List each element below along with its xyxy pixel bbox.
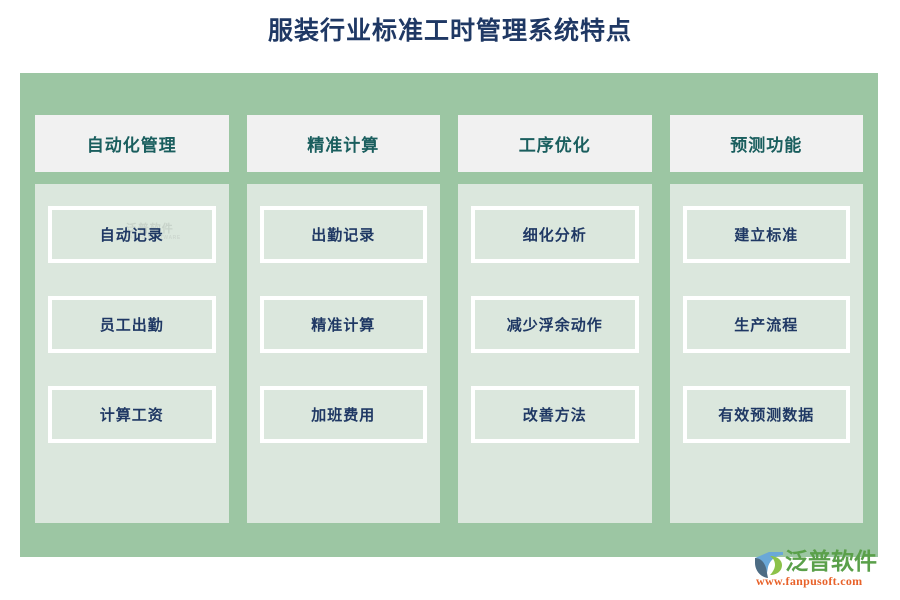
feature-cell-label: 自动记录 (100, 224, 164, 245)
feature-column-precise-calculation: 精准计算 出勤记录 精准计算 加班费用 (247, 115, 441, 523)
column-body-process-optimization: 细化分析 减少浮余动作 改善方法 (458, 184, 652, 523)
feature-cell-label: 有效预测数据 (718, 404, 814, 425)
feature-cell-label: 生产流程 (734, 314, 798, 335)
feature-cell-label: 出勤记录 (311, 224, 375, 245)
column-body-precise-calculation: 出勤记录 精准计算 加班费用 (247, 184, 441, 523)
feature-cell[interactable]: 自动记录 泛普软件 FANPU SOFTWARE (48, 206, 216, 263)
feature-cell[interactable]: 改善方法 (471, 386, 639, 443)
brand-url: www.fanpusoft.com (756, 575, 877, 587)
column-body-automation: 自动记录 泛普软件 FANPU SOFTWARE 员工出勤 计算工资 (35, 184, 229, 523)
feature-cell-label: 计算工资 (100, 404, 164, 425)
brand-logo: 泛普软件 www.fanpusoft.com (754, 550, 890, 594)
brand-name: 泛普软件 (785, 550, 877, 573)
feature-cell[interactable]: 建立标准 (683, 206, 851, 263)
column-header-process-optimization: 工序优化 (458, 115, 652, 172)
feature-cell-label: 建立标准 (734, 224, 798, 245)
column-header-precise-calculation: 精准计算 (247, 115, 441, 172)
feature-cell-label: 改善方法 (523, 404, 587, 425)
feature-cell-label: 细化分析 (523, 224, 587, 245)
feature-column-process-optimization: 工序优化 细化分析 减少浮余动作 改善方法 (458, 115, 652, 523)
column-header-label: 精准计算 (307, 131, 379, 156)
feature-cell[interactable]: 细化分析 (471, 206, 639, 263)
feature-cell-label: 加班费用 (311, 404, 375, 425)
feature-panel: 自动化管理 自动记录 泛普软件 FANPU SOFTWARE 员工出勤 计算工资 (20, 73, 878, 557)
column-header-label: 工序优化 (519, 131, 591, 156)
page-title: 服装行业标准工时管理系统特点 (0, 14, 900, 48)
column-header-label: 预测功能 (730, 131, 802, 156)
feature-cell[interactable]: 精准计算 (260, 296, 428, 353)
feature-column-automation: 自动化管理 自动记录 泛普软件 FANPU SOFTWARE 员工出勤 计算工资 (35, 115, 229, 523)
column-body-forecasting: 建立标准 生产流程 有效预测数据 (670, 184, 864, 523)
feature-cell-label: 精准计算 (311, 314, 375, 335)
feature-column-forecasting: 预测功能 建立标准 生产流程 有效预测数据 (670, 115, 864, 523)
feature-cell[interactable]: 员工出勤 (48, 296, 216, 353)
column-header-label: 自动化管理 (87, 131, 177, 156)
feature-cell[interactable]: 减少浮余动作 (471, 296, 639, 353)
feature-columns: 自动化管理 自动记录 泛普软件 FANPU SOFTWARE 员工出勤 计算工资 (35, 115, 863, 523)
feature-cell[interactable]: 有效预测数据 (683, 386, 851, 443)
feature-cell-label: 员工出勤 (100, 314, 164, 335)
column-header-forecasting: 预测功能 (670, 115, 864, 172)
feature-cell[interactable]: 出勤记录 (260, 206, 428, 263)
column-header-automation: 自动化管理 (35, 115, 229, 172)
feature-cell[interactable]: 加班费用 (260, 386, 428, 443)
feature-cell-label: 减少浮余动作 (507, 314, 603, 335)
feature-cell[interactable]: 生产流程 (683, 296, 851, 353)
brand-text: 泛普软件 www.fanpusoft.com (785, 550, 877, 587)
feature-cell[interactable]: 计算工资 (48, 386, 216, 443)
